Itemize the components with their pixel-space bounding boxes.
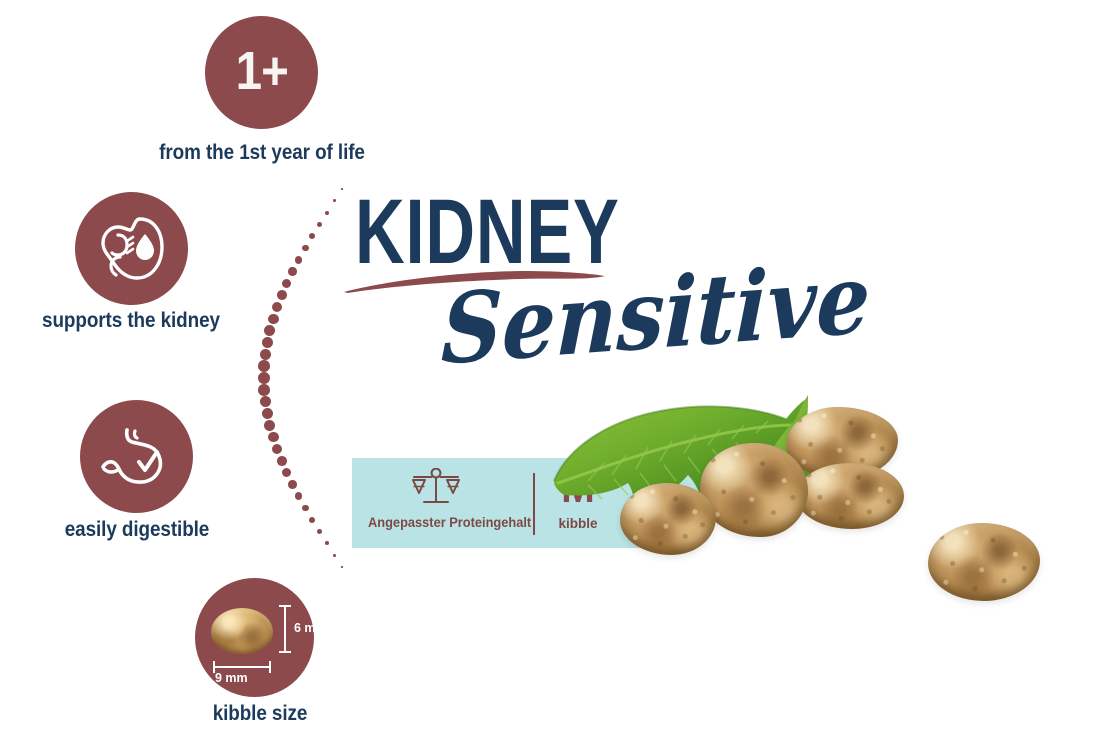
arc-dot bbox=[288, 480, 296, 488]
width-measure-line bbox=[213, 666, 271, 668]
arc-dot bbox=[277, 456, 287, 466]
feature-badge-kibble-size: 6 mm 9 mm bbox=[195, 578, 314, 697]
dry-kibble-nugget bbox=[796, 463, 904, 529]
dry-kibble-nugget bbox=[928, 523, 1040, 601]
balance-scale-icon bbox=[410, 468, 462, 510]
kibble-measurement-icon bbox=[211, 608, 273, 654]
arc-dot bbox=[264, 420, 275, 431]
arc-dot bbox=[258, 384, 270, 396]
arc-dot bbox=[282, 468, 291, 477]
feature-badge-digestion bbox=[80, 400, 193, 513]
arc-dot bbox=[302, 505, 309, 512]
arc-dot bbox=[260, 396, 272, 408]
info-bar-divider bbox=[533, 473, 535, 535]
arc-dot bbox=[333, 199, 336, 202]
kibble-width-value: 9 mm bbox=[215, 671, 248, 685]
arc-dot bbox=[295, 256, 303, 264]
arc-dot bbox=[295, 492, 303, 500]
arc-dot bbox=[341, 188, 342, 189]
arc-dot bbox=[272, 302, 282, 312]
arc-dot bbox=[325, 541, 329, 545]
height-measure-cap-bottom bbox=[279, 651, 291, 653]
dry-kibble-nugget bbox=[700, 443, 808, 537]
height-measure-line bbox=[284, 605, 286, 653]
arc-dot bbox=[268, 432, 279, 443]
kibble-height-value: 6 mm bbox=[294, 621, 327, 635]
arc-dot bbox=[302, 245, 309, 252]
product-infographic: 1+ from the 1st year of life supports th… bbox=[0, 0, 1100, 733]
page-title-sensitive: Sensitive bbox=[440, 251, 872, 379]
arc-dot bbox=[341, 566, 342, 567]
arc-dot bbox=[288, 267, 296, 275]
arc-dot bbox=[317, 222, 322, 227]
dry-kibble-nugget bbox=[620, 483, 716, 555]
arc-dot bbox=[262, 408, 273, 419]
arc-dot bbox=[272, 444, 282, 454]
arc-dot bbox=[258, 372, 270, 384]
arc-dot bbox=[325, 211, 329, 215]
arc-dot bbox=[264, 325, 275, 336]
protein-content-label: Angepasster Proteingehalt bbox=[368, 515, 520, 530]
arc-dot bbox=[282, 279, 291, 288]
one-plus-badge-icon: 1+ bbox=[235, 44, 287, 101]
product-photo-group bbox=[548, 385, 1100, 645]
dotted-arc-divider bbox=[228, 185, 358, 575]
arc-dot bbox=[260, 349, 272, 361]
arc-dot bbox=[333, 554, 336, 557]
stomach-check-icon bbox=[99, 424, 175, 490]
feature-label-kibble-size: kibble size bbox=[98, 702, 422, 726]
arc-dot bbox=[309, 517, 315, 523]
height-measure-cap-top bbox=[279, 605, 291, 607]
arc-dot bbox=[268, 314, 279, 325]
arc-dot bbox=[277, 290, 287, 300]
feature-badge-age: 1+ bbox=[205, 16, 318, 129]
arc-dot bbox=[309, 233, 315, 239]
kidney-droplet-icon bbox=[96, 215, 168, 283]
arc-dot bbox=[317, 529, 322, 534]
arc-dot bbox=[262, 337, 273, 348]
arc-dot bbox=[258, 360, 270, 372]
feature-badge-kidney bbox=[75, 192, 188, 305]
width-measure-cap-right bbox=[269, 661, 271, 673]
feature-label-age: from the 1st year of life bbox=[100, 141, 424, 165]
